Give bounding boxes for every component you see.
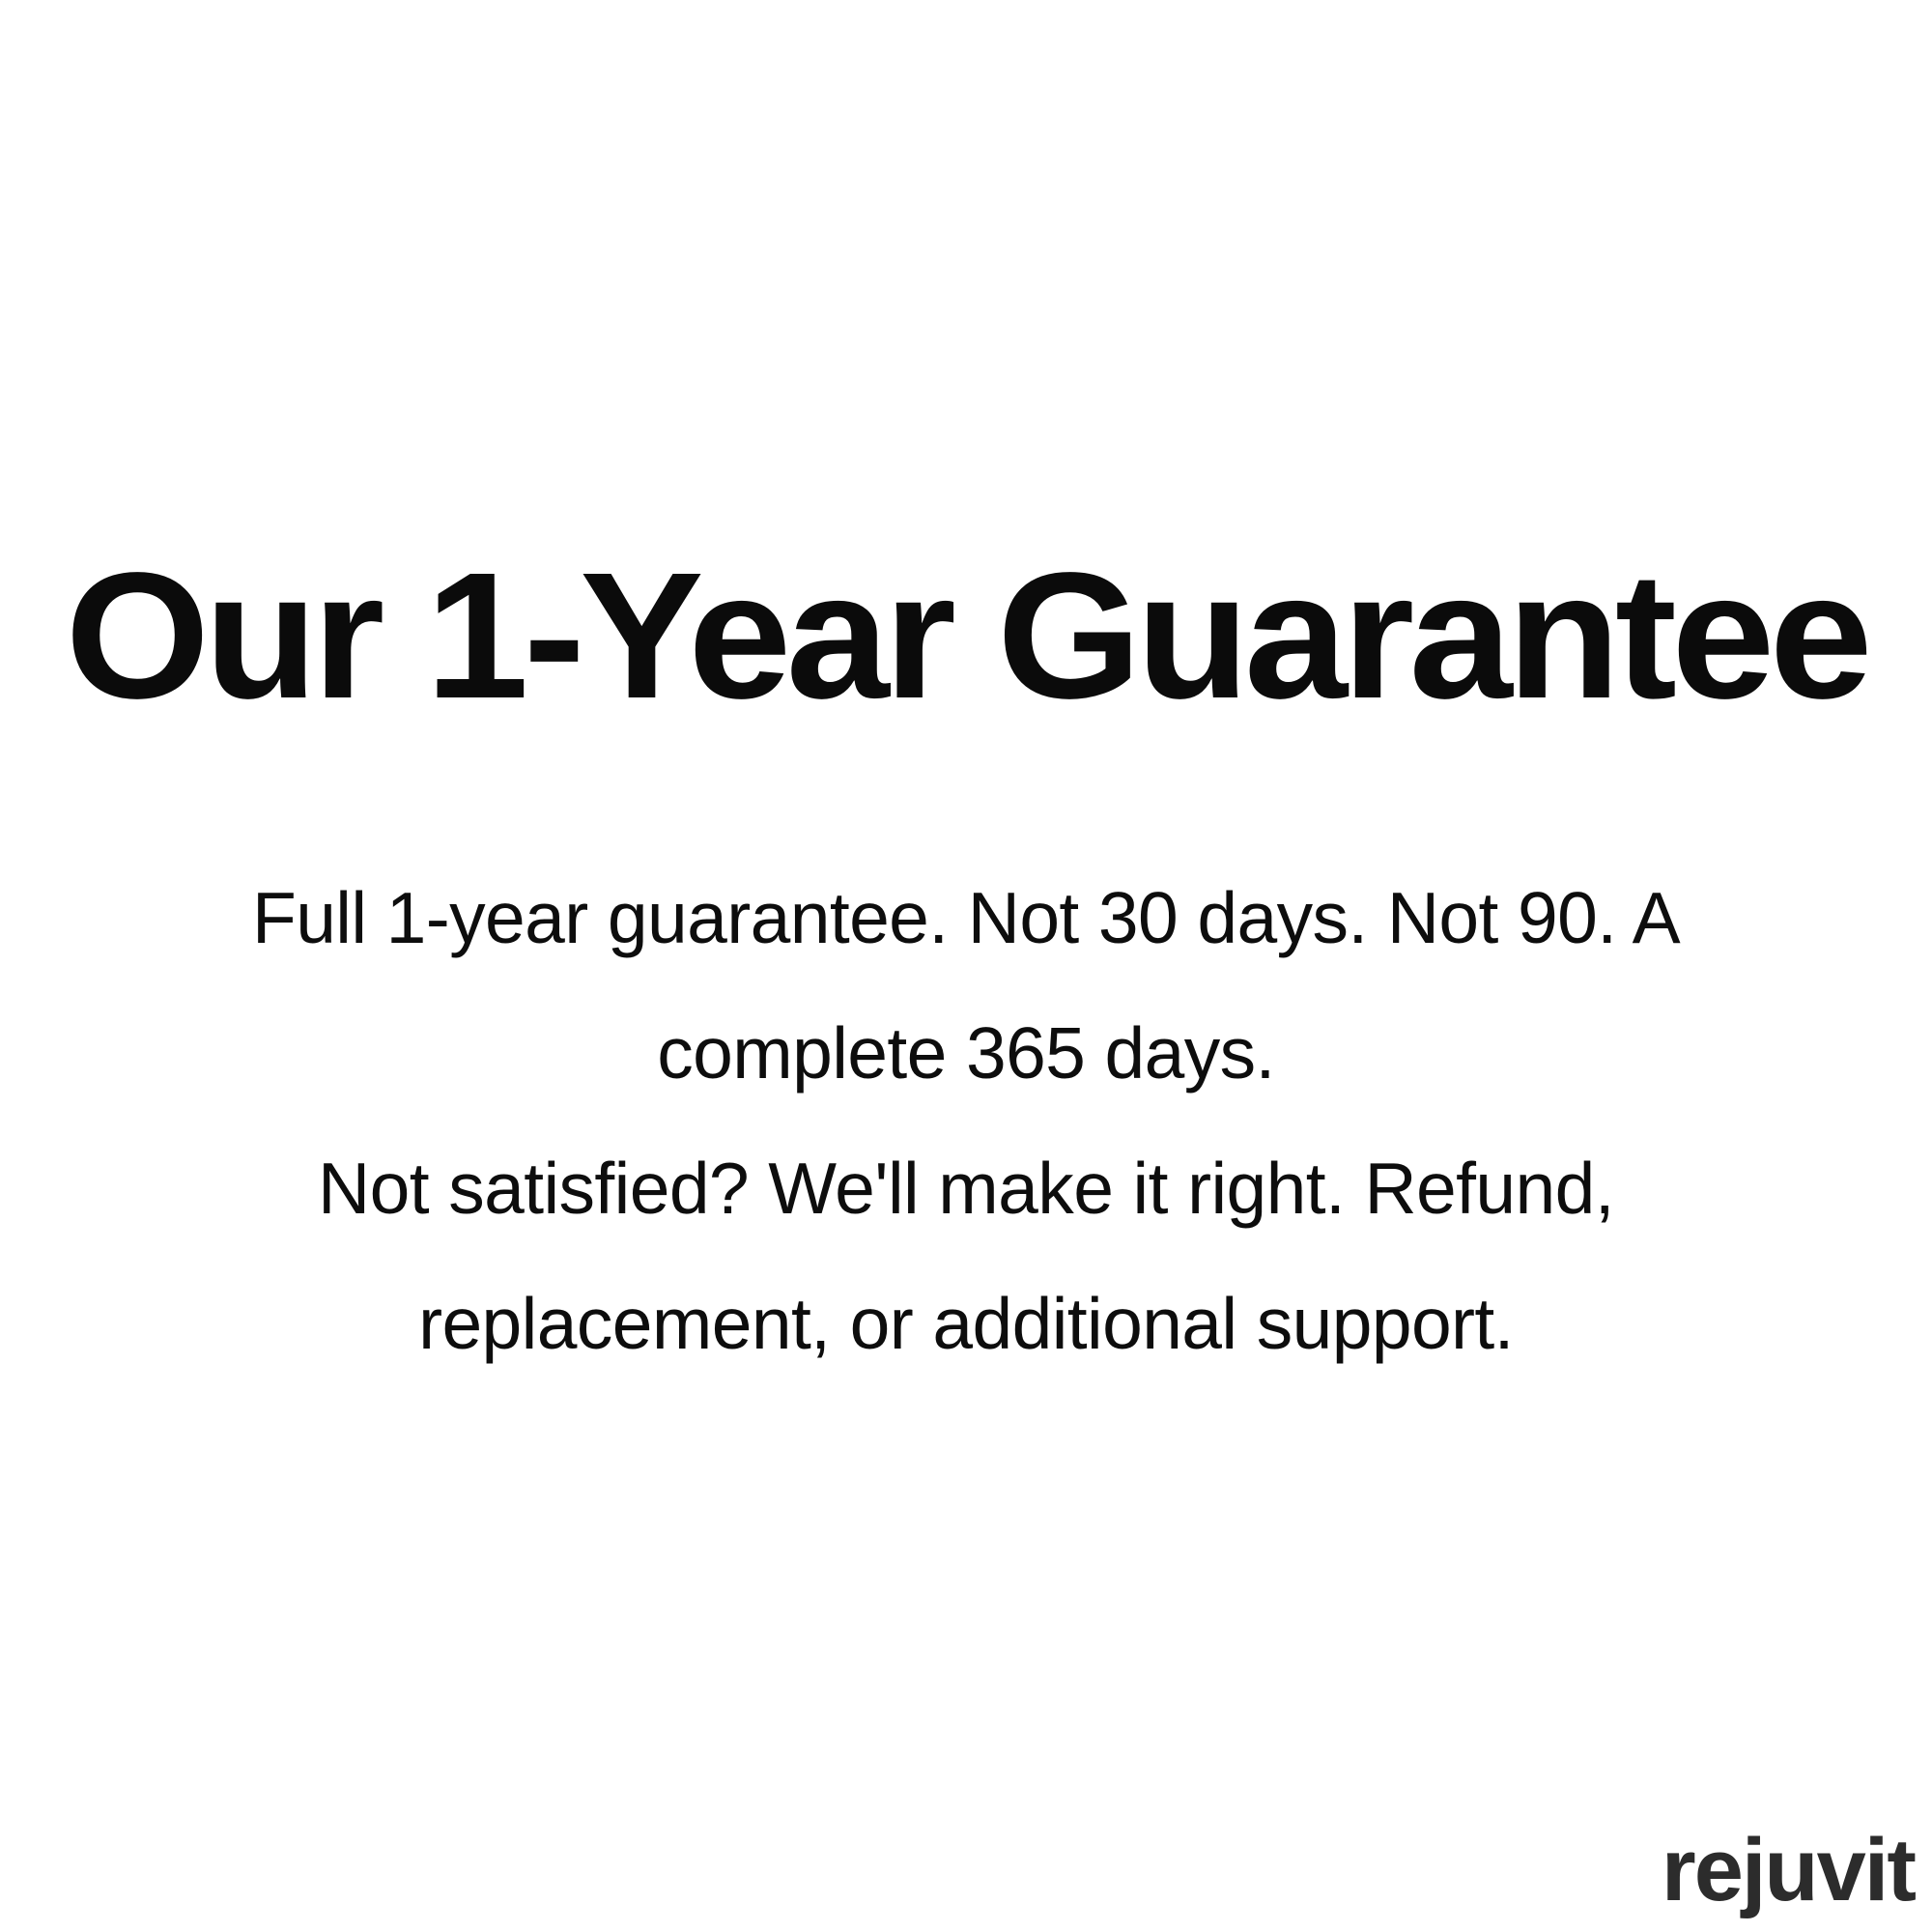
guarantee-duration-paragraph: Full 1-year guarantee. Not 30 days. Not …	[97, 850, 1835, 1121]
body-line: Not satisfied? We'll make it right. Refu…	[97, 1121, 1835, 1256]
brand-block: rejuvit	[1662, 1826, 1915, 1915]
body-copy-block: Full 1-year guarantee. Not 30 days. Not …	[97, 850, 1835, 1391]
guarantee-poster: Our 1-Year Guarantee Full 1-year guarant…	[0, 0, 1932, 1932]
guarantee-remedy-paragraph: Not satisfied? We'll make it right. Refu…	[97, 1121, 1835, 1391]
body-line: Full 1-year guarantee. Not 30 days. Not …	[97, 850, 1835, 985]
body-line: complete 365 days.	[97, 985, 1835, 1121]
page-title: Our 1-Year Guarantee	[65, 541, 1867, 731]
body-line: replacement, or additional support.	[97, 1256, 1835, 1391]
brand-logo: rejuvit	[1662, 1826, 1915, 1915]
headline-block: Our 1-Year Guarantee	[0, 541, 1932, 731]
